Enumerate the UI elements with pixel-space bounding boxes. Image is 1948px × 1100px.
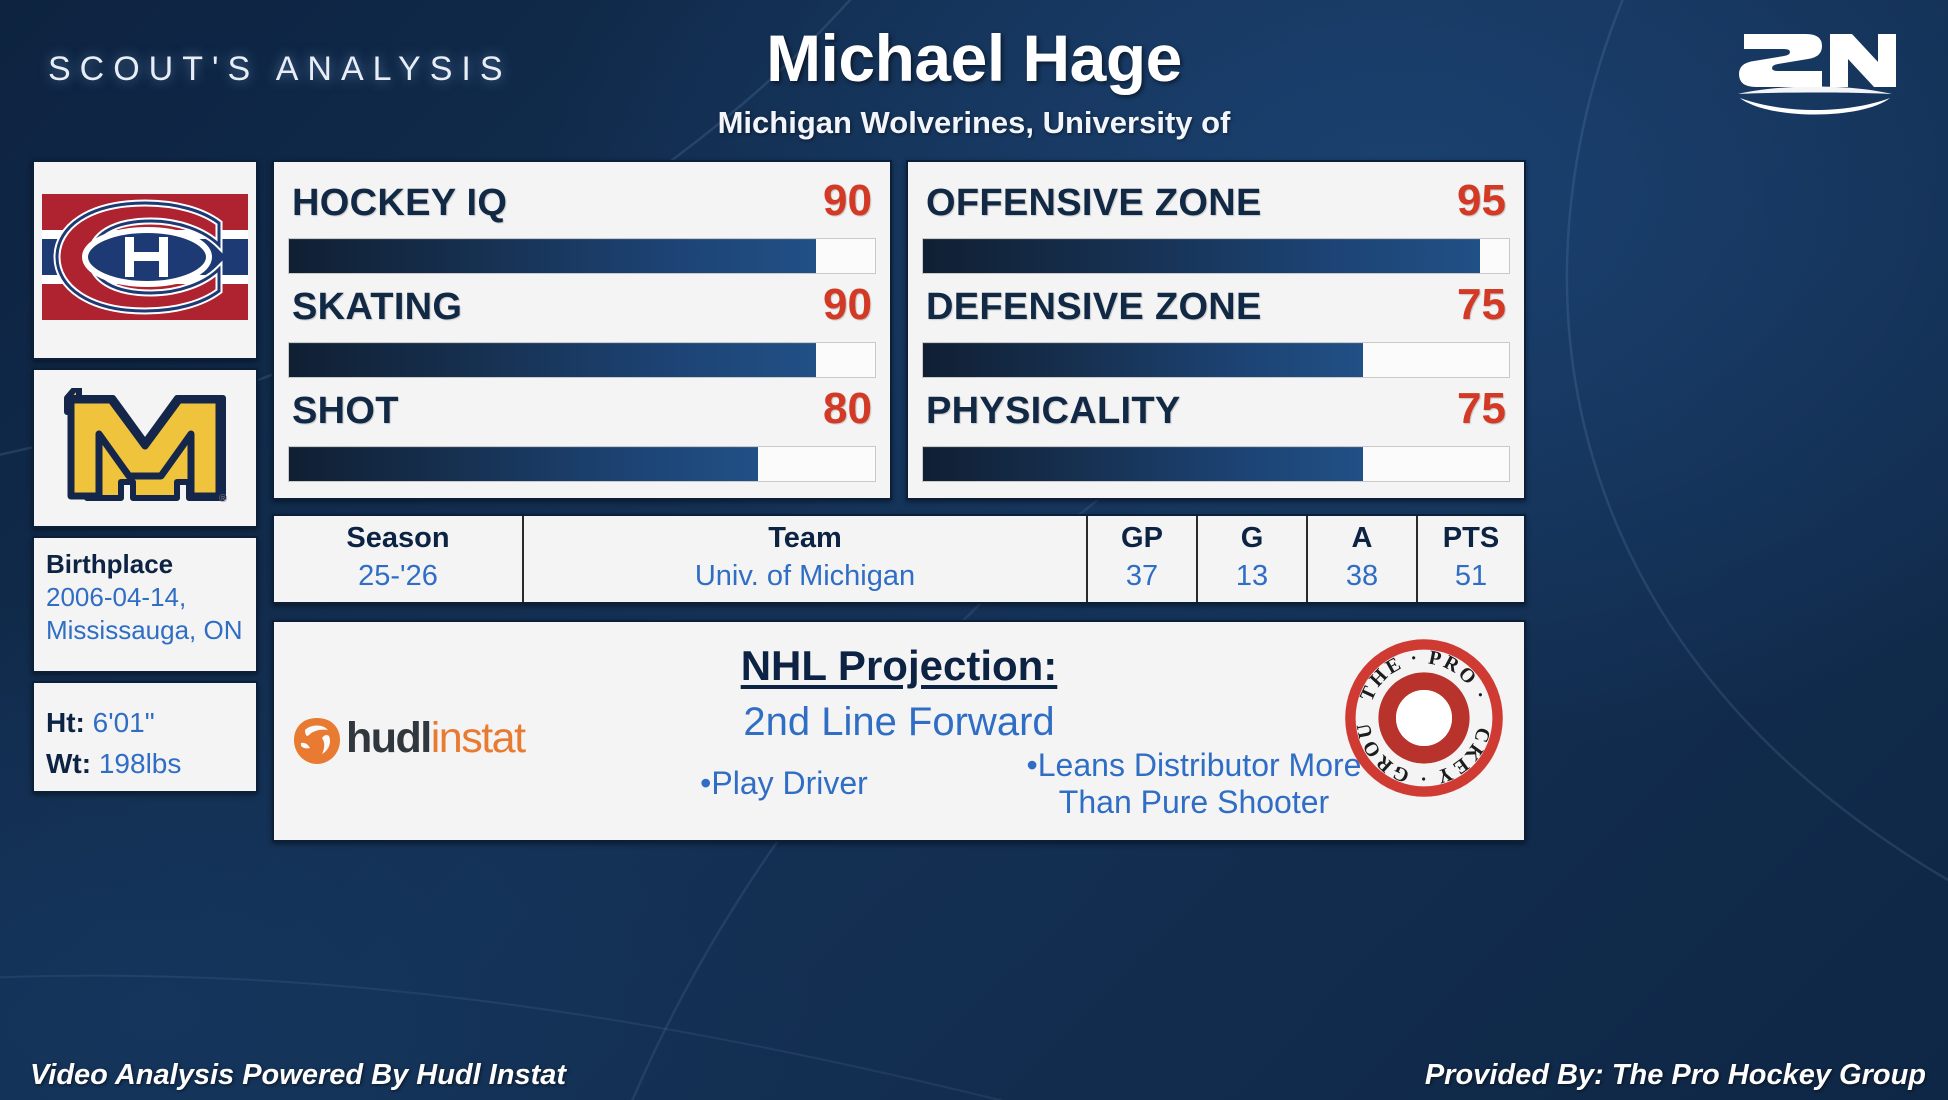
rating-bar-track (922, 238, 1510, 274)
weight-label: Wt: (46, 748, 91, 779)
footer-right-credit: Provided By: The Pro Hockey Group (1425, 1059, 1926, 1092)
rating-value: 95 (1457, 176, 1506, 226)
rating-row: DEFENSIVE ZONE 75 (922, 280, 1510, 384)
rating-value: 90 (823, 280, 872, 330)
table-cell-a: A 38 (1308, 516, 1418, 602)
height-row: Ht: 6'01" (46, 703, 244, 744)
weight-value: 198lbs (99, 748, 182, 779)
cell-value: 37 (1126, 558, 1158, 596)
column-header: A (1352, 522, 1373, 555)
rating-row: SKATING 90 (288, 280, 876, 384)
column-header: PTS (1443, 522, 1499, 555)
column-header: G (1241, 522, 1264, 555)
projection-subtitle: 2nd Line Forward (274, 700, 1524, 745)
rating-label: OFFENSIVE ZONE (926, 182, 1262, 225)
page-title: Michael Hage (0, 20, 1948, 96)
header: SCOUT'S ANALYSIS Michael Hage Michigan W… (0, 0, 1948, 155)
bullet-text-line2: Than Pure Shooter (1059, 784, 1329, 820)
table-cell-team: Team Univ. of Michigan (524, 516, 1088, 602)
rating-row: PHYSICALITY 75 (922, 384, 1510, 488)
rating-bar-fill (289, 239, 816, 273)
table-cell-pts: PTS 51 (1418, 516, 1524, 602)
ratings-panel-left: HOCKEY IQ 90 SKATING 90 SHOT 80 (272, 160, 892, 500)
rating-bar-fill (289, 447, 758, 481)
cell-value: 25-'26 (358, 558, 438, 596)
measurements-panel: Ht: 6'01" Wt: 198lbs (32, 681, 258, 793)
rating-bar-track (288, 342, 876, 378)
bullet-text-line1: Leans Distributor More (1038, 747, 1362, 783)
projection-title: NHL Projection: (274, 642, 1524, 690)
rating-value: 75 (1457, 384, 1506, 434)
player-team-subtitle: Michigan Wolverines, University of (0, 105, 1948, 141)
nhl-projection-panel: hudlinstat NHL Projection: 2nd Line Forw… (272, 620, 1526, 842)
rating-label: DEFENSIVE ZONE (926, 286, 1262, 329)
bullet-marker: • (1027, 747, 1038, 783)
season-stats-table: Season 25-'26 Team Univ. of Michigan GP … (272, 514, 1526, 604)
rating-bar-track (288, 446, 876, 482)
birthplace-city: Mississauga, ON (46, 614, 244, 648)
svg-text:®: ® (219, 493, 227, 505)
rating-label: HOCKEY IQ (292, 182, 507, 225)
birthplace-label: Birthplace (46, 548, 244, 581)
bullet-marker: • (700, 765, 711, 801)
table-cell-g: G 13 (1198, 516, 1308, 602)
cell-value: Univ. of Michigan (695, 558, 915, 596)
rating-bar-fill (923, 447, 1363, 481)
birthplace-date: 2006-04-14, (46, 581, 244, 615)
column-header: GP (1121, 522, 1163, 555)
projection-bullet-1: •Play Driver (604, 765, 964, 802)
height-value: 6'01" (93, 707, 155, 738)
table-cell-season: Season 25-'26 (274, 516, 524, 602)
weight-row: Wt: 198lbs (46, 744, 244, 785)
left-info-column: ® Birthplace 2006-04-14, Mississauga, ON… (32, 160, 258, 801)
cell-value: 13 (1236, 558, 1268, 596)
rating-label: SKATING (292, 286, 462, 329)
montreal-canadiens-logo-icon (42, 194, 248, 320)
column-header: Season (346, 522, 449, 555)
column-header: Team (768, 522, 842, 555)
rating-value: 75 (1457, 280, 1506, 330)
birthplace-panel: Birthplace 2006-04-14, Mississauga, ON (32, 536, 258, 673)
height-label: Ht: (46, 707, 85, 738)
ratings-panel-right: OFFENSIVE ZONE 95 DEFENSIVE ZONE 75 PHYS… (906, 160, 1526, 500)
rating-row: SHOT 80 (288, 384, 876, 488)
rating-value: 80 (823, 384, 872, 434)
rating-bar-fill (923, 343, 1363, 377)
table-cell-gp: GP 37 (1088, 516, 1198, 602)
rating-bar-track (288, 238, 876, 274)
rating-bar-track (922, 446, 1510, 482)
sportsnet-logo-icon (1730, 22, 1900, 120)
rating-label: SHOT (292, 390, 399, 433)
michigan-wolverines-logo-icon: ® (61, 388, 229, 508)
rating-bar-track (922, 342, 1510, 378)
rating-row: OFFENSIVE ZONE 95 (922, 176, 1510, 280)
rating-bar-fill (923, 239, 1480, 273)
school-logo-panel: ® (32, 368, 258, 528)
cell-value: 38 (1346, 558, 1378, 596)
footer-left-credit: Video Analysis Powered By Hudl Instat (30, 1059, 566, 1092)
cell-value: 51 (1455, 558, 1487, 596)
rating-value: 90 (823, 176, 872, 226)
rating-label: PHYSICALITY (926, 390, 1181, 433)
rating-row: HOCKEY IQ 90 (288, 176, 876, 280)
rating-bar-fill (289, 343, 816, 377)
pro-hockey-group-logo-icon: THE · PRO · HOCKEY · GROUP · (1344, 638, 1504, 798)
bullet-text: Play Driver (711, 765, 867, 801)
graphic-background: SCOUT'S ANALYSIS Michael Hage Michigan W… (0, 0, 1948, 1100)
nhl-team-logo-panel (32, 160, 258, 360)
